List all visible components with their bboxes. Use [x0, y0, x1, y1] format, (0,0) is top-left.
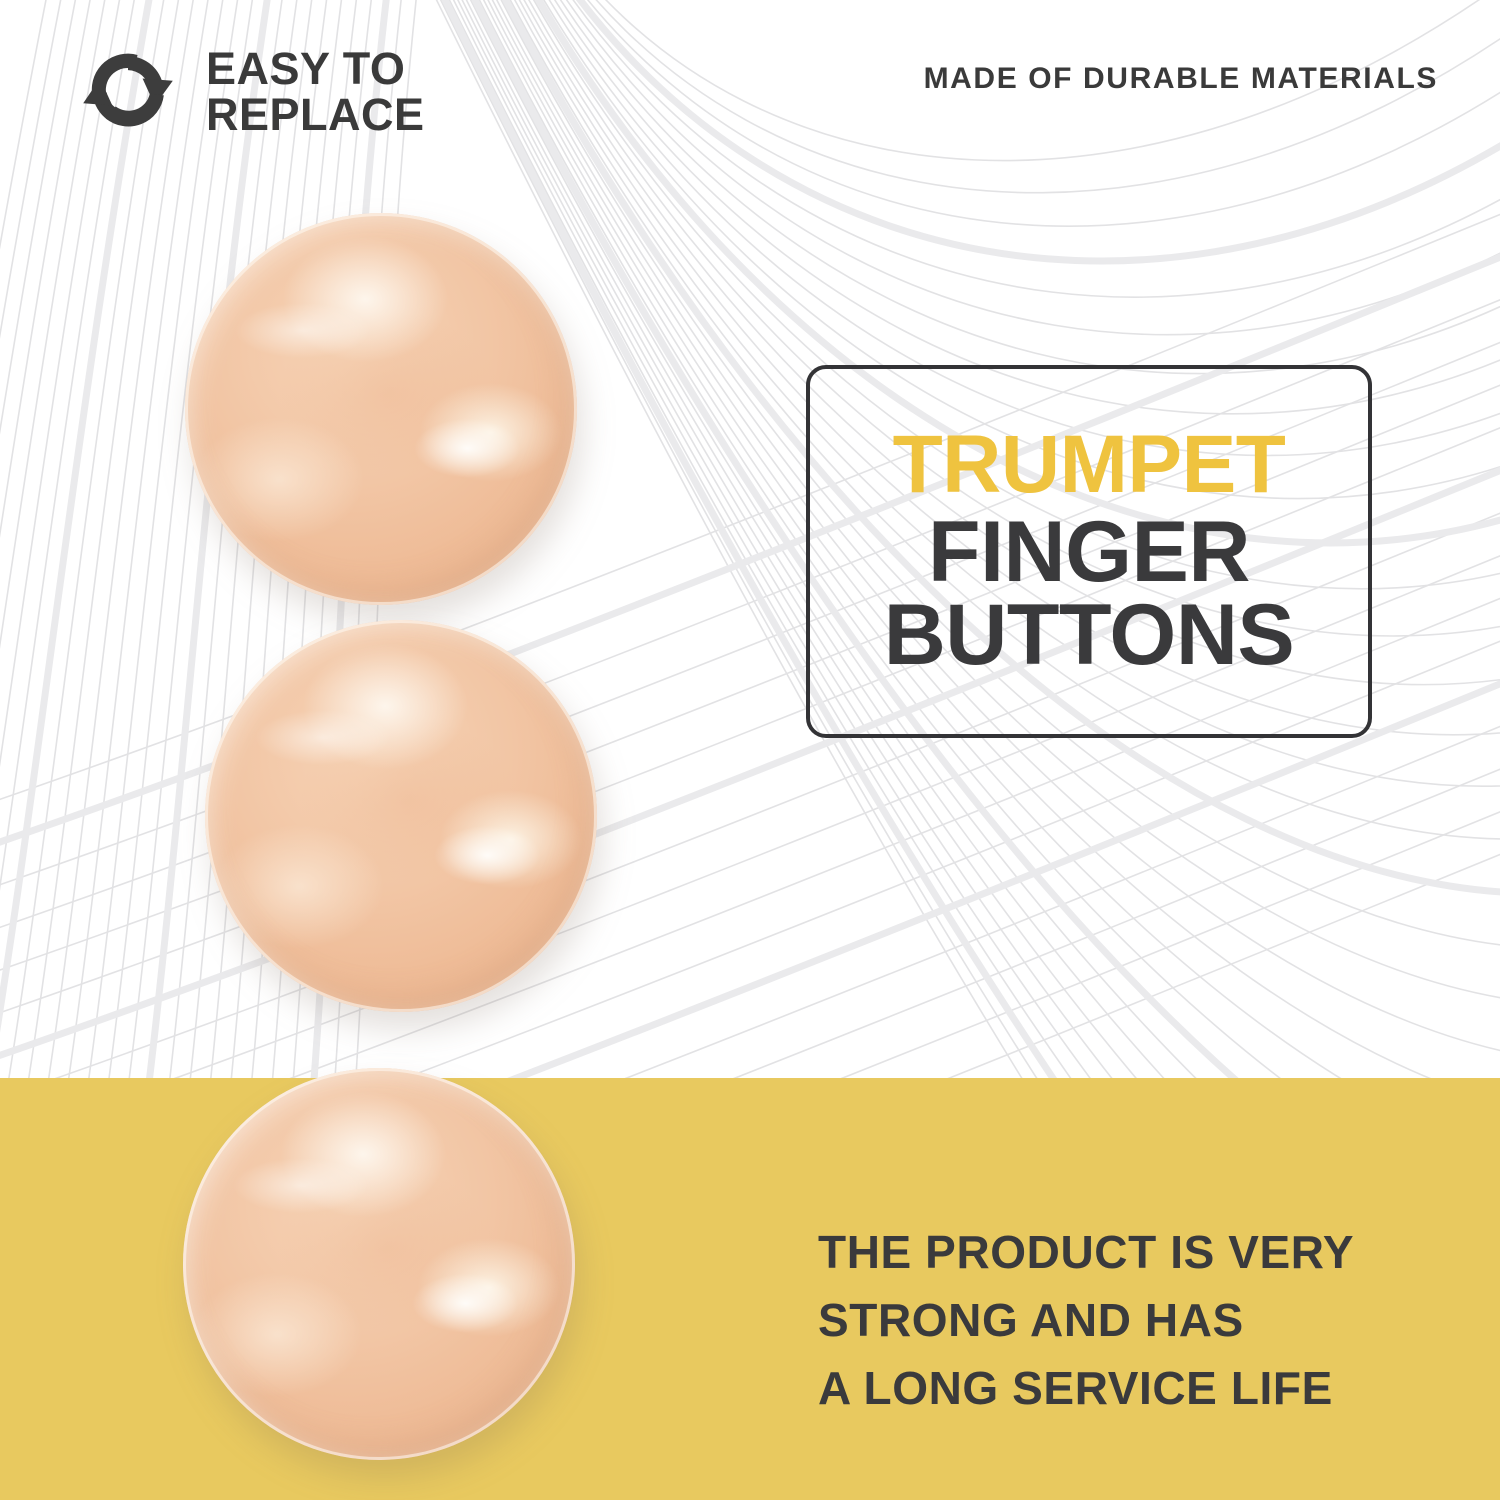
- product-title-box: TRUMPET FINGER BUTTONS: [806, 365, 1372, 738]
- badge-durable-materials-label: MADE OF DURABLE MATERIALS: [924, 62, 1438, 96]
- finger-button-middle: [205, 620, 597, 1012]
- badge-easy-to-replace-label: EASY TO REPLACE: [206, 46, 425, 138]
- button-sheen: [205, 620, 597, 1012]
- finger-button-bottom: [183, 1068, 575, 1460]
- product-infographic: EASY TO REPLACE MADE OF DURABLE MATERIAL…: [0, 0, 1500, 1500]
- recycle-arrows-icon: [72, 36, 184, 148]
- button-sheen: [183, 1068, 575, 1460]
- finger-button-top: [185, 213, 577, 605]
- button-sheen: [185, 213, 577, 605]
- title-main-line-2: BUTTONS: [884, 594, 1295, 677]
- title-main-line-1: FINGER: [928, 511, 1250, 594]
- bottom-benefit-copy: THE PRODUCT IS VERY STRONG AND HAS A LON…: [818, 1218, 1354, 1422]
- badge-easy-to-replace: EASY TO REPLACE: [72, 36, 425, 148]
- title-accent-line: TRUMPET: [893, 425, 1286, 505]
